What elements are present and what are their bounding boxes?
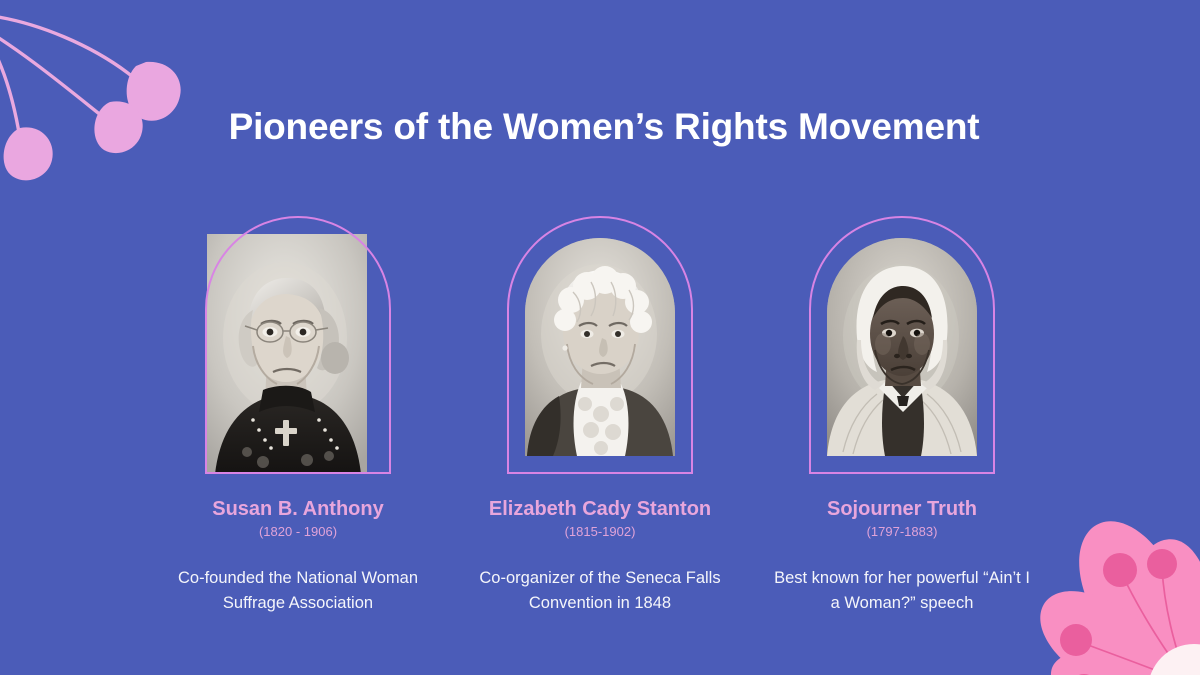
decor-berry-branch-icon xyxy=(0,0,200,184)
arch-outline xyxy=(507,216,693,474)
pioneer-card: Sojourner Truth (1797-1883) Best known f… xyxy=(751,216,1053,616)
person-name: Susan B. Anthony xyxy=(212,498,383,521)
person-years: (1797-1883) xyxy=(867,524,938,539)
arch-outline xyxy=(809,216,995,474)
person-years: (1820 - 1906) xyxy=(259,524,337,539)
portrait-arch-frame xyxy=(205,216,391,474)
person-description: Best known for her powerful “Ain’t I a W… xyxy=(771,566,1033,616)
person-name: Elizabeth Cady Stanton xyxy=(489,498,711,521)
pioneer-card: Susan B. Anthony (1820 - 1906) Co-founde… xyxy=(147,216,449,616)
portrait-arch-frame xyxy=(507,216,693,474)
person-name: Sojourner Truth xyxy=(827,498,977,521)
arch-outline xyxy=(205,216,391,474)
pioneer-card: Elizabeth Cady Stanton (1815-1902) Co-or… xyxy=(449,216,751,616)
page-title: Pioneers of the Women’s Rights Movement xyxy=(0,105,1200,149)
slide-canvas: Pioneers of the Women’s Rights Movement xyxy=(0,0,1200,675)
person-description: Co-founded the National Woman Suffrage A… xyxy=(167,566,429,616)
person-description: Co-organizer of the Seneca Falls Convent… xyxy=(469,566,731,616)
person-years: (1815-1902) xyxy=(565,524,636,539)
pioneer-card-row: Susan B. Anthony (1820 - 1906) Co-founde… xyxy=(0,216,1200,616)
portrait-arch-frame xyxy=(809,216,995,474)
